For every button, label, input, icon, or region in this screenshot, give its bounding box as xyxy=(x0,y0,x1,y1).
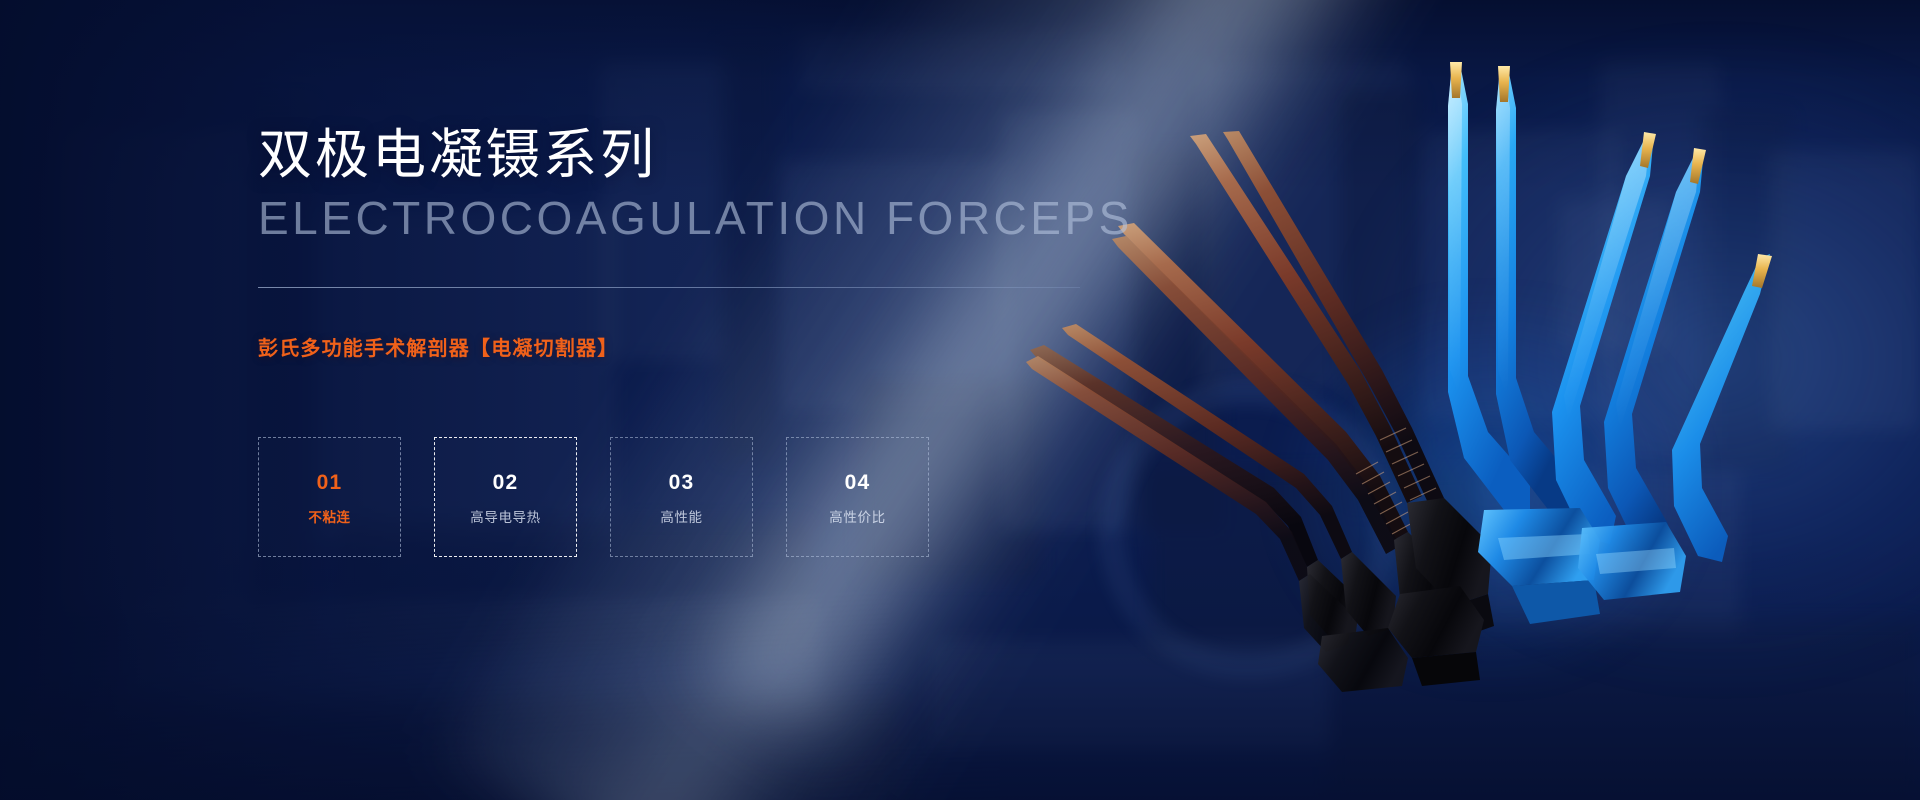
feature-box-03[interactable]: 03 高性能 xyxy=(610,437,753,557)
feature-box-01[interactable]: 01 不粘连 xyxy=(258,437,401,557)
page-title-en: ELECTROCOAGULATION FORCEPS xyxy=(258,194,1098,242)
product-subtitle: 彭氏多功能手术解剖器【电凝切割器】 xyxy=(258,332,1098,361)
feature-number: 04 xyxy=(845,472,871,493)
feature-label: 不粘连 xyxy=(308,511,350,525)
feature-number: 03 xyxy=(669,472,695,493)
banner-content: 双极电凝镊系列 ELECTROCOAGULATION FORCEPS 彭氏多功能… xyxy=(258,126,1098,557)
title-divider xyxy=(258,287,1080,288)
page-title-cn: 双极电凝镊系列 xyxy=(258,126,1098,184)
feature-label: 高性价比 xyxy=(829,511,885,525)
feature-label: 高性能 xyxy=(660,511,702,525)
feature-list: 01 不粘连 02 高导电导热 03 高性能 04 高性价比 xyxy=(258,437,1098,557)
product-banner: 双极电凝镊系列 ELECTROCOAGULATION FORCEPS 彭氏多功能… xyxy=(0,0,1920,800)
feature-label: 高导电导热 xyxy=(470,511,541,525)
feature-box-04[interactable]: 04 高性价比 xyxy=(786,437,929,557)
feature-box-02[interactable]: 02 高导电导热 xyxy=(434,437,577,557)
feature-number: 01 xyxy=(317,472,343,493)
feature-number: 02 xyxy=(493,472,519,493)
